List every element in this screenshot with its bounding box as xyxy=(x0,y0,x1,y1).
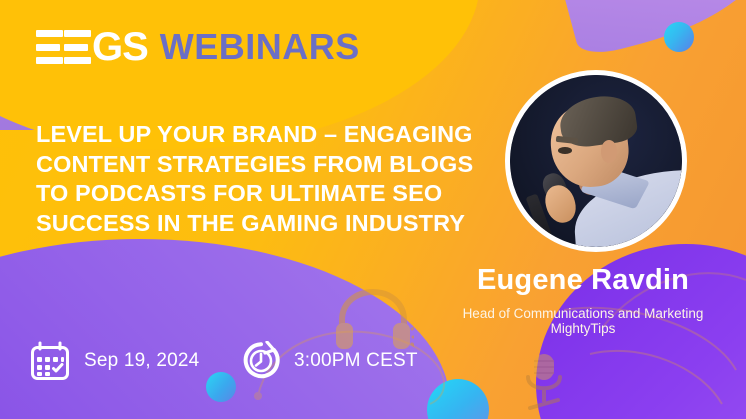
clock-icon xyxy=(241,341,281,381)
event-date-text: Sep 19, 2024 xyxy=(84,350,199,372)
speaker-avatar xyxy=(505,70,687,252)
eegs-logo-mark: GS xyxy=(36,30,148,64)
logo-webinars-text: WEBINARS xyxy=(160,30,360,64)
cyan-circle-middle xyxy=(206,372,236,402)
logo-gs-text: GS xyxy=(92,30,148,64)
logo-e-second xyxy=(64,30,91,64)
photo-ear xyxy=(601,140,616,162)
speaker-organization: MightyTips xyxy=(420,321,746,336)
event-time: 3:00PM CEST xyxy=(241,341,418,381)
event-date: Sep 19, 2024 xyxy=(30,340,199,382)
event-time-text: 3:00PM CEST xyxy=(294,350,418,372)
purple-shape-top-right xyxy=(558,0,746,60)
microphone-icon xyxy=(518,352,570,414)
webinar-promo-banner: GS WEBINARS LEVEL UP YOUR BRAND – ENGAGI… xyxy=(0,0,746,419)
logo-e-first xyxy=(36,30,63,64)
page-title: LEVEL UP YOUR BRAND – ENGAGING CONTENT S… xyxy=(36,120,506,239)
cyan-circle-top xyxy=(664,22,694,52)
speaker-name: Eugene Ravdin xyxy=(420,264,746,297)
calendar-icon xyxy=(30,340,70,382)
speaker-photo xyxy=(510,75,682,247)
brand-logo: GS WEBINARS xyxy=(36,30,360,64)
